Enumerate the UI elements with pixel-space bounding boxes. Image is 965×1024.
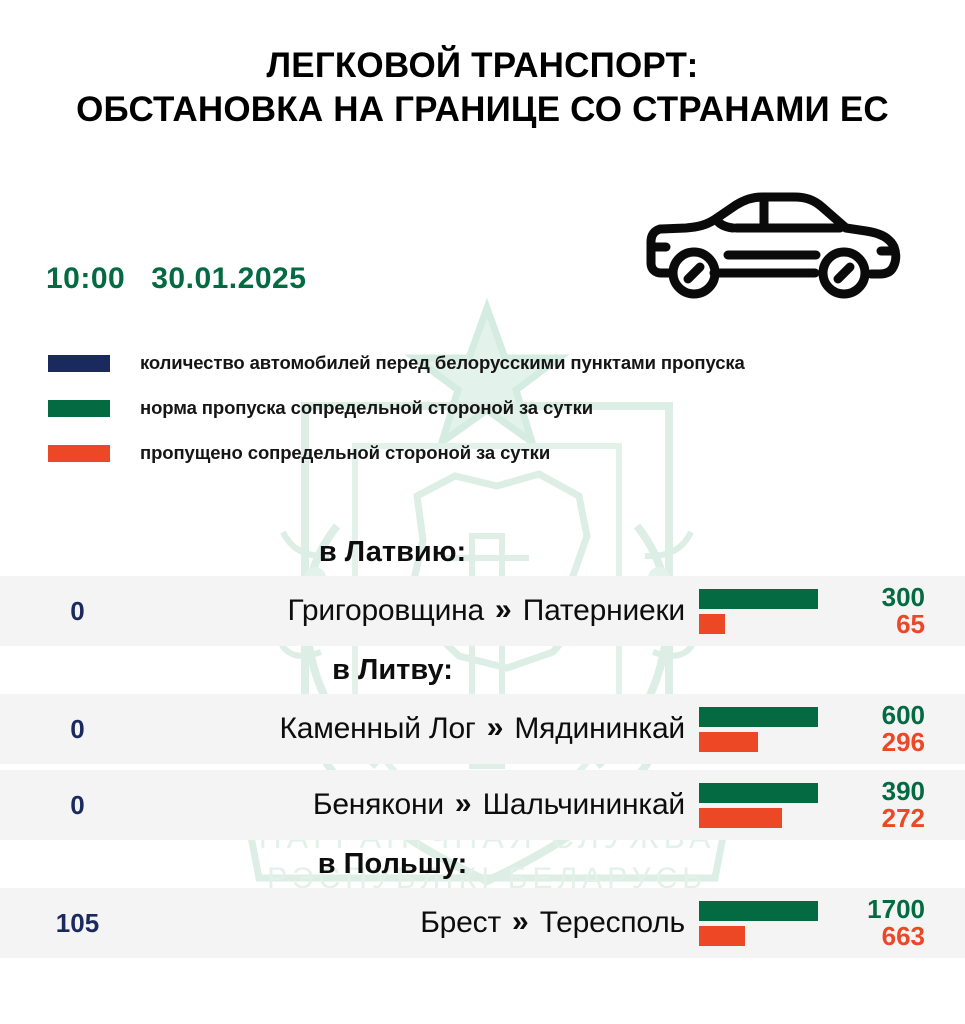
- checkpoint-sections: в Латвию: 0 Григоровщина » Патерниеки 30…: [0, 528, 965, 958]
- route-grigorovshchina: Григоровщина » Патерниеки: [120, 576, 685, 646]
- double-chevron-icon: »: [495, 593, 512, 627]
- checkpoint-to: Тересполь: [540, 906, 685, 940]
- checkpoint-from: Григоровщина: [287, 594, 484, 628]
- double-chevron-icon: »: [487, 711, 504, 745]
- table-row: 0 Каменный Лог » Мядининкай 600 296: [0, 694, 965, 764]
- title-line-1: ЛЕГКОВОЙ ТРАНСПОРТ:: [267, 46, 699, 85]
- route-benyakoni: Бенякони » Шальчининкай: [120, 770, 685, 840]
- legend-item-passed: пропущено сопредельной стороной за сутки: [48, 435, 948, 471]
- value-group: 1700 663: [785, 888, 925, 958]
- legend-label-norm: норма пропуска сопредельной стороной за …: [140, 397, 593, 419]
- double-chevron-icon: »: [455, 787, 472, 821]
- value-group: 300 65: [785, 576, 925, 646]
- queue-count-benyakoni: 0: [40, 770, 115, 840]
- table-row: 105 Брест » Тересполь 1700 663: [0, 888, 965, 958]
- checkpoint-from: Каменный Лог: [280, 712, 476, 746]
- value-passed: 296: [882, 729, 925, 756]
- checkpoint-from: Брест: [420, 906, 501, 940]
- route-brest: Брест » Тересполь: [120, 888, 685, 958]
- title-line-2: ОБСТАНОВКА НА ГРАНИЦЕ СО СТРАНАМИ ЕС: [0, 88, 965, 132]
- checkpoint-to: Шальчининкай: [483, 788, 685, 822]
- bar-passed: [699, 614, 725, 634]
- legend-item-queue: количество автомобилей перед белорусским…: [48, 345, 948, 381]
- timestamp: 10:0030.01.2025: [46, 262, 306, 296]
- route-kamenny-log: Каменный Лог » Мядининкай: [120, 694, 685, 764]
- section-heading-lithuania: в Литву:: [0, 646, 965, 694]
- value-norm: 600: [882, 702, 925, 729]
- queue-count-brest: 105: [40, 888, 115, 958]
- table-row: 0 Бенякони » Шальчининкай 390 272: [0, 770, 965, 840]
- checkpoint-from: Бенякони: [313, 788, 444, 822]
- value-group: 390 272: [785, 770, 925, 840]
- legend-swatch-red: [48, 445, 110, 462]
- value-group: 600 296: [785, 694, 925, 764]
- legend: количество автомобилей перед белорусским…: [48, 345, 948, 480]
- car-icon: [640, 185, 905, 300]
- value-passed: 272: [882, 805, 925, 832]
- double-chevron-icon: »: [512, 905, 529, 939]
- legend-label-passed: пропущено сопредельной стороной за сутки: [140, 442, 550, 464]
- value-passed: 65: [896, 611, 925, 638]
- legend-label-queue: количество автомобилей перед белорусским…: [140, 352, 745, 374]
- checkpoint-to: Мядининкай: [514, 712, 685, 746]
- legend-item-norm: норма пропуска сопредельной стороной за …: [48, 390, 948, 426]
- bar-passed: [699, 926, 745, 946]
- value-passed: 663: [882, 923, 925, 950]
- table-row: 0 Григоровщина » Патерниеки 300 65: [0, 576, 965, 646]
- timestamp-time: 10:00: [46, 262, 125, 295]
- bar-passed: [699, 808, 782, 828]
- queue-count-grigorovshchina: 0: [40, 576, 115, 646]
- value-norm: 1700: [867, 896, 925, 923]
- queue-count-kamenny-log: 0: [40, 694, 115, 764]
- legend-swatch-green: [48, 400, 110, 417]
- page-title: ЛЕГКОВОЙ ТРАНСПОРТ: ОБСТАНОВКА НА ГРАНИЦ…: [0, 44, 965, 132]
- infographic-page: ПАГРАНІЧНАЯ СЛУЖБА РЭСПУБЛІКІ БЕЛАРУСЬ Л…: [0, 0, 965, 1024]
- checkpoint-to: Патерниеки: [523, 594, 685, 628]
- bar-passed: [699, 732, 758, 752]
- value-norm: 390: [882, 778, 925, 805]
- value-norm: 300: [882, 584, 925, 611]
- timestamp-date: 30.01.2025: [151, 262, 306, 295]
- legend-swatch-navy: [48, 355, 110, 372]
- section-heading-latvia: в Латвию:: [0, 528, 965, 576]
- section-heading-poland: в Польшу:: [0, 840, 965, 888]
